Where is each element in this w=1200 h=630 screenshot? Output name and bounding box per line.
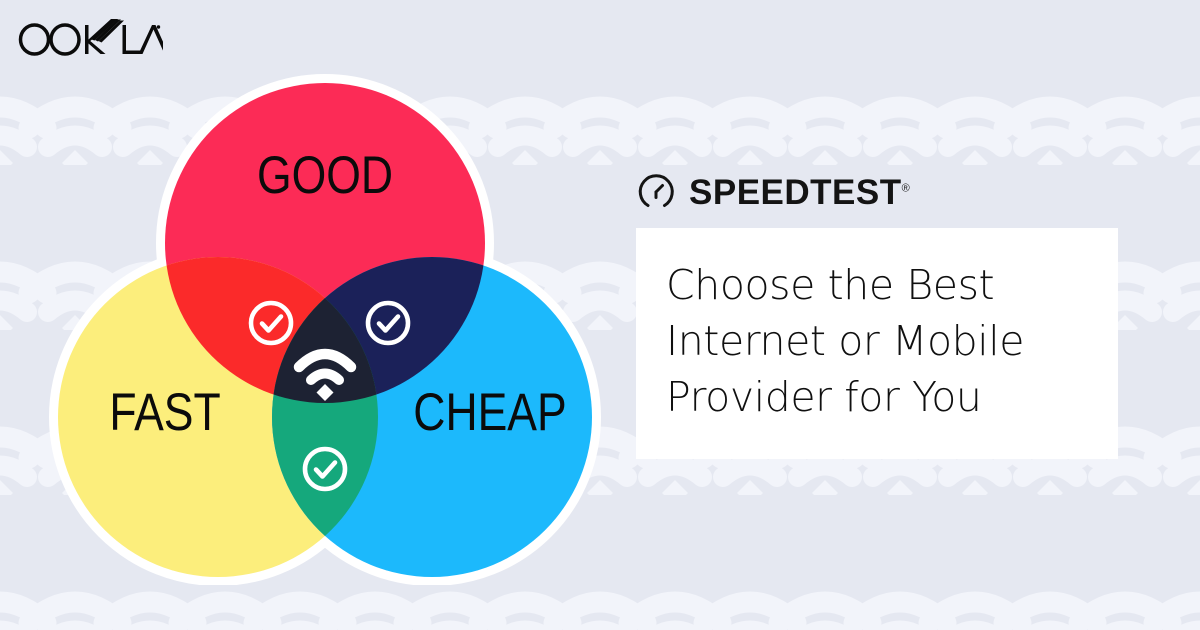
headline-card: Choose the BestInternet or MobileProvide… bbox=[636, 228, 1118, 459]
venn-label-fast: FAST bbox=[109, 383, 220, 441]
venn-label-good: GOOD bbox=[257, 146, 393, 204]
headline-line-3: Provider for You bbox=[666, 373, 982, 421]
headline-line-2: Internet or Mobile bbox=[666, 317, 1024, 365]
speedometer-icon bbox=[636, 172, 676, 212]
venn-diagram: GOOD FAST CHEAP bbox=[40, 55, 620, 585]
right-content-column: SPEEDTEST® Choose the BestInternet or Mo… bbox=[636, 170, 1136, 459]
registered-trademark-mark: ® bbox=[902, 182, 910, 194]
venn-label-cheap: CHEAP bbox=[413, 383, 566, 441]
speedtest-wordmark-text: SPEEDTEST bbox=[689, 173, 902, 212]
headline-line-1: Choose the Best bbox=[666, 261, 994, 309]
speedtest-logo: SPEEDTEST® bbox=[636, 170, 1136, 214]
ookla-logo bbox=[18, 16, 163, 60]
speedtest-wordmark: SPEEDTEST® bbox=[689, 175, 910, 210]
page-title: Choose the BestInternet or MobileProvide… bbox=[666, 258, 1088, 425]
